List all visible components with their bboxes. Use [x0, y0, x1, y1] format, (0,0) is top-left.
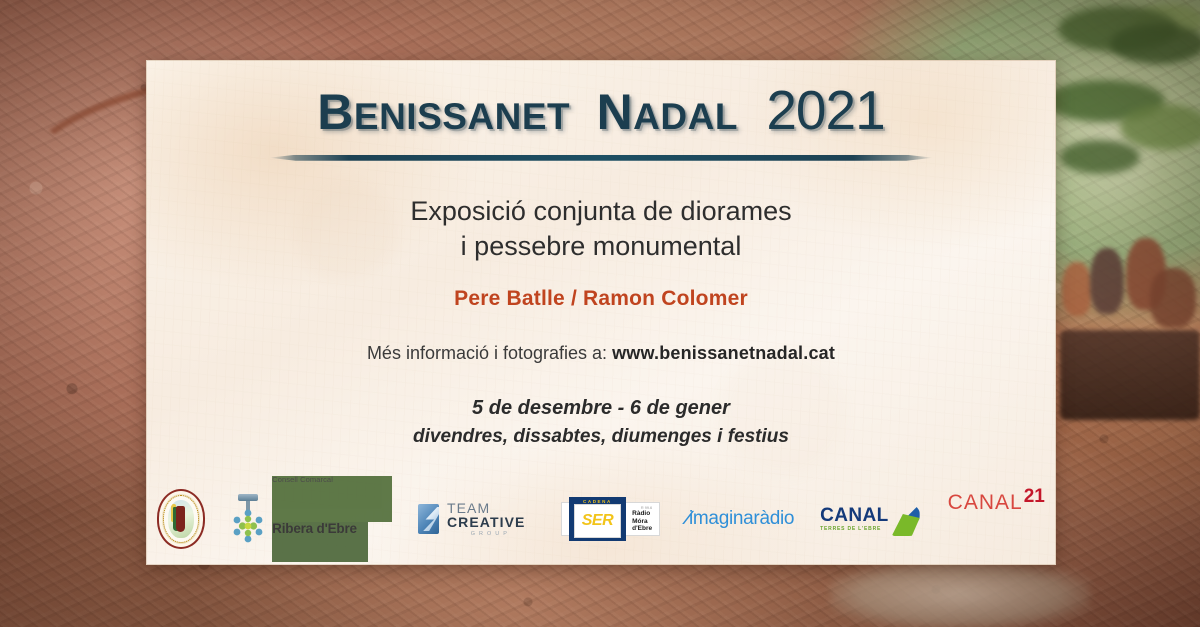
subtitle-line-2: i pessebre monumental: [146, 229, 1056, 265]
imaginaradio-text: imaginaràdio: [689, 508, 794, 529]
consell-cap-shape: [238, 494, 258, 501]
dates-range: 5 de desembre - 6 de gener: [146, 394, 1056, 423]
consell-line-2: Ribera d'Ebre: [272, 522, 368, 562]
logo-imaginaradio[interactable]: ∕imaginaràdio: [686, 491, 794, 547]
more-info-line: Més informació i fotografies a: www.beni…: [146, 343, 1056, 364]
logo-canal-21[interactable]: CANAL 21: [948, 491, 1045, 547]
title-divider: [269, 152, 933, 164]
canal-swoosh-green: [892, 514, 920, 536]
team-creative-name: TEAM CREATIVE: [447, 501, 535, 529]
consell-comarcal-icon: [231, 494, 265, 544]
title-word-nadal: NADAL: [597, 86, 738, 139]
website-url[interactable]: www.benissanetnadal.cat: [612, 343, 835, 363]
poster-stage: BENISSANET NADAL 2021 Exposició conjunta…: [0, 0, 1200, 627]
team-creative-icon: [418, 504, 439, 534]
dates-block: 5 de desembre - 6 de gener divendres, di…: [146, 394, 1056, 451]
consell-line-1: Consell Comarcal: [272, 476, 392, 522]
dates-weekdays: divendres, dissabtes, diumenges i festiu…: [146, 423, 1056, 451]
title-benissanet-rest: ENISSANET: [354, 96, 570, 137]
ser-station-line-1: Ràdio: [632, 510, 652, 517]
more-info-label: Més informació i fotografies a:: [367, 343, 607, 363]
ser-station-line-2: Móra d'Ebre: [632, 518, 652, 532]
imaginaradio-wordmark: ∕imaginaràdio: [686, 508, 794, 530]
sponsor-logo-strip: Consell Comarcal Ribera d'Ebre TEAM CREA…: [146, 487, 1056, 551]
page-title: BENISSANET NADAL 2021: [146, 60, 1056, 140]
divider-bar: [269, 155, 933, 161]
subtitle-line-1: Exposició conjunta de diorames: [146, 194, 1056, 230]
logo-cadena-ser[interactable]: CADENA SER R 99.6 Ràdio Móra d'Ebre: [561, 491, 660, 547]
title-word-benissanet: BENISSANET: [317, 86, 570, 139]
cadena-ser-lockup: CADENA SER R 99.6 Ràdio Móra d'Ebre: [561, 502, 660, 536]
title-benissanet-initial: B: [317, 84, 354, 140]
team-creative-wordmark: TEAM CREATIVE GROUP: [447, 501, 535, 538]
crest-shield-icon: [168, 500, 194, 538]
canal21-word: CANAL: [948, 491, 1023, 515]
creative-word: CREATIVE: [447, 514, 526, 530]
logo-canal-terres-ebre[interactable]: CANAL TERRES DE L'EBRE: [820, 491, 922, 547]
ser-word: SER: [574, 504, 621, 538]
authors-line: Pere Batlle / Ramon Colomer: [146, 287, 1056, 311]
canal-wordmark: CANAL TERRES DE L'EBRE: [820, 506, 889, 532]
consell-star-icon: [233, 509, 263, 543]
cadena-ser-icon: CADENA SER: [569, 497, 626, 541]
logo-consell-comarcal[interactable]: Consell Comarcal Ribera d'Ebre: [231, 491, 392, 547]
poster-card: BENISSANET NADAL 2021 Exposició conjunta…: [146, 60, 1056, 565]
canal21-number: 21: [1024, 486, 1045, 508]
poster-subtitle: Exposició conjunta de diorames i pessebr…: [146, 194, 1056, 265]
consell-comarcal-wordmark: Consell Comarcal Ribera d'Ebre: [272, 476, 392, 562]
title-nadal-initial: N: [597, 84, 634, 140]
crest-icon: [157, 489, 205, 549]
team-creative-group-word: GROUP: [447, 532, 535, 538]
ser-station-info: R 99.6 Ràdio Móra d'Ebre: [632, 506, 652, 532]
title-year: 2021: [766, 82, 884, 140]
title-nadal-rest: ADAL: [633, 96, 738, 137]
logo-team-creative[interactable]: TEAM CREATIVE GROUP: [418, 491, 535, 547]
logo-benissanet-crest[interactable]: [157, 491, 205, 547]
canal-tagline: TERRES DE L'EBRE: [820, 527, 889, 532]
canal-swoosh-icon: [892, 504, 922, 534]
canal-word: CANAL: [820, 506, 889, 525]
